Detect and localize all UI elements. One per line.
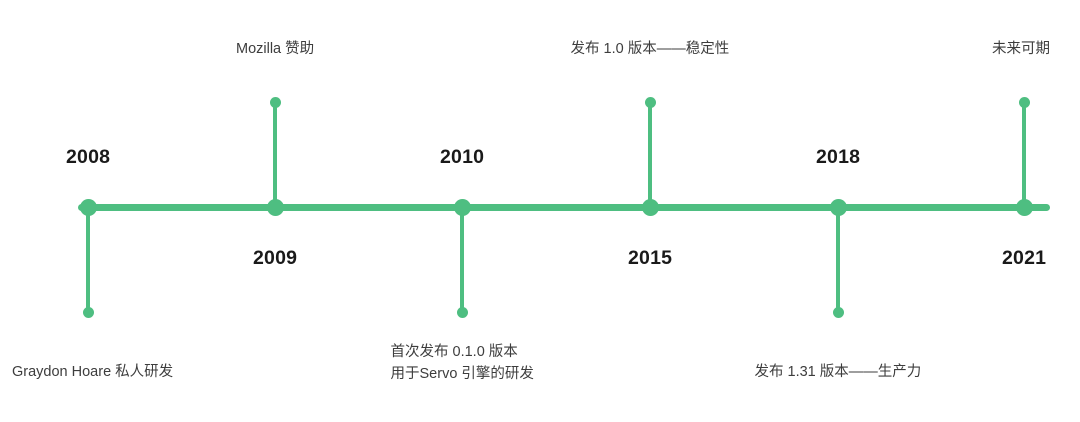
timeline-stem-endpoint-year-2008: [83, 307, 94, 318]
timeline-year-label-year-2018: 2018: [816, 148, 860, 168]
timeline-event-label-line: 未来可期: [992, 38, 1050, 60]
timeline-event-label-line: 首次发布 0.1.0 版本: [391, 341, 534, 363]
timeline-stem-endpoint-year-2021: [1019, 97, 1030, 108]
timeline-event-label-line: Mozilla 赞助: [236, 38, 314, 60]
timeline-event-label-year-2018: 发布 1.31 版本——生产力: [755, 361, 922, 383]
timeline-node-year-2015[interactable]: [642, 199, 659, 216]
timeline-node-year-2010[interactable]: [454, 199, 471, 216]
timeline-node-year-2009[interactable]: [267, 199, 284, 216]
timeline-stem-year-2009: [273, 102, 277, 208]
timeline-event-label-year-2010: 首次发布 0.1.0 版本用于Servo 引擎的研发: [391, 341, 534, 386]
timeline-stem-year-2008: [86, 208, 90, 312]
timeline-stem-endpoint-year-2009: [270, 97, 281, 108]
timeline-event-label-line: Graydon Hoare 私人研发: [12, 361, 173, 383]
timeline-stem-year-2018: [836, 208, 840, 312]
timeline-node-year-2021[interactable]: [1016, 199, 1033, 216]
timeline-event-label-year-2015: 发布 1.0 版本——稳定性: [571, 38, 730, 60]
timeline-node-year-2018[interactable]: [830, 199, 847, 216]
timeline-stem-year-2015: [648, 102, 652, 208]
timeline-event-label-line: 用于Servo 引擎的研发: [391, 363, 534, 385]
timeline-year-label-year-2009: 2009: [253, 249, 297, 269]
timeline-year-label-year-2008: 2008: [66, 148, 110, 168]
timeline-event-label-year-2009: Mozilla 赞助: [236, 38, 314, 60]
timeline-axis: [78, 204, 1050, 211]
timeline-stem-year-2021: [1022, 102, 1026, 208]
timeline-event-label-line: 发布 1.0 版本——稳定性: [571, 38, 730, 60]
timeline-year-label-year-2015: 2015: [628, 249, 672, 269]
timeline-node-year-2008[interactable]: [80, 199, 97, 216]
timeline-year-label-year-2010: 2010: [440, 148, 484, 168]
timeline-event-label-line: 发布 1.31 版本——生产力: [755, 361, 922, 383]
timeline-stem-year-2010: [460, 208, 464, 312]
timeline-event-label-year-2021: 未来可期: [992, 38, 1050, 60]
timeline-event-label-year-2008: Graydon Hoare 私人研发: [12, 361, 173, 383]
timeline-stem-endpoint-year-2015: [645, 97, 656, 108]
timeline-year-label-year-2021: 2021: [1002, 249, 1046, 269]
timeline-diagram: 200820092010201520182021 Graydon Hoare 私…: [0, 0, 1080, 422]
timeline-stem-endpoint-year-2010: [457, 307, 468, 318]
timeline-stem-endpoint-year-2018: [833, 307, 844, 318]
